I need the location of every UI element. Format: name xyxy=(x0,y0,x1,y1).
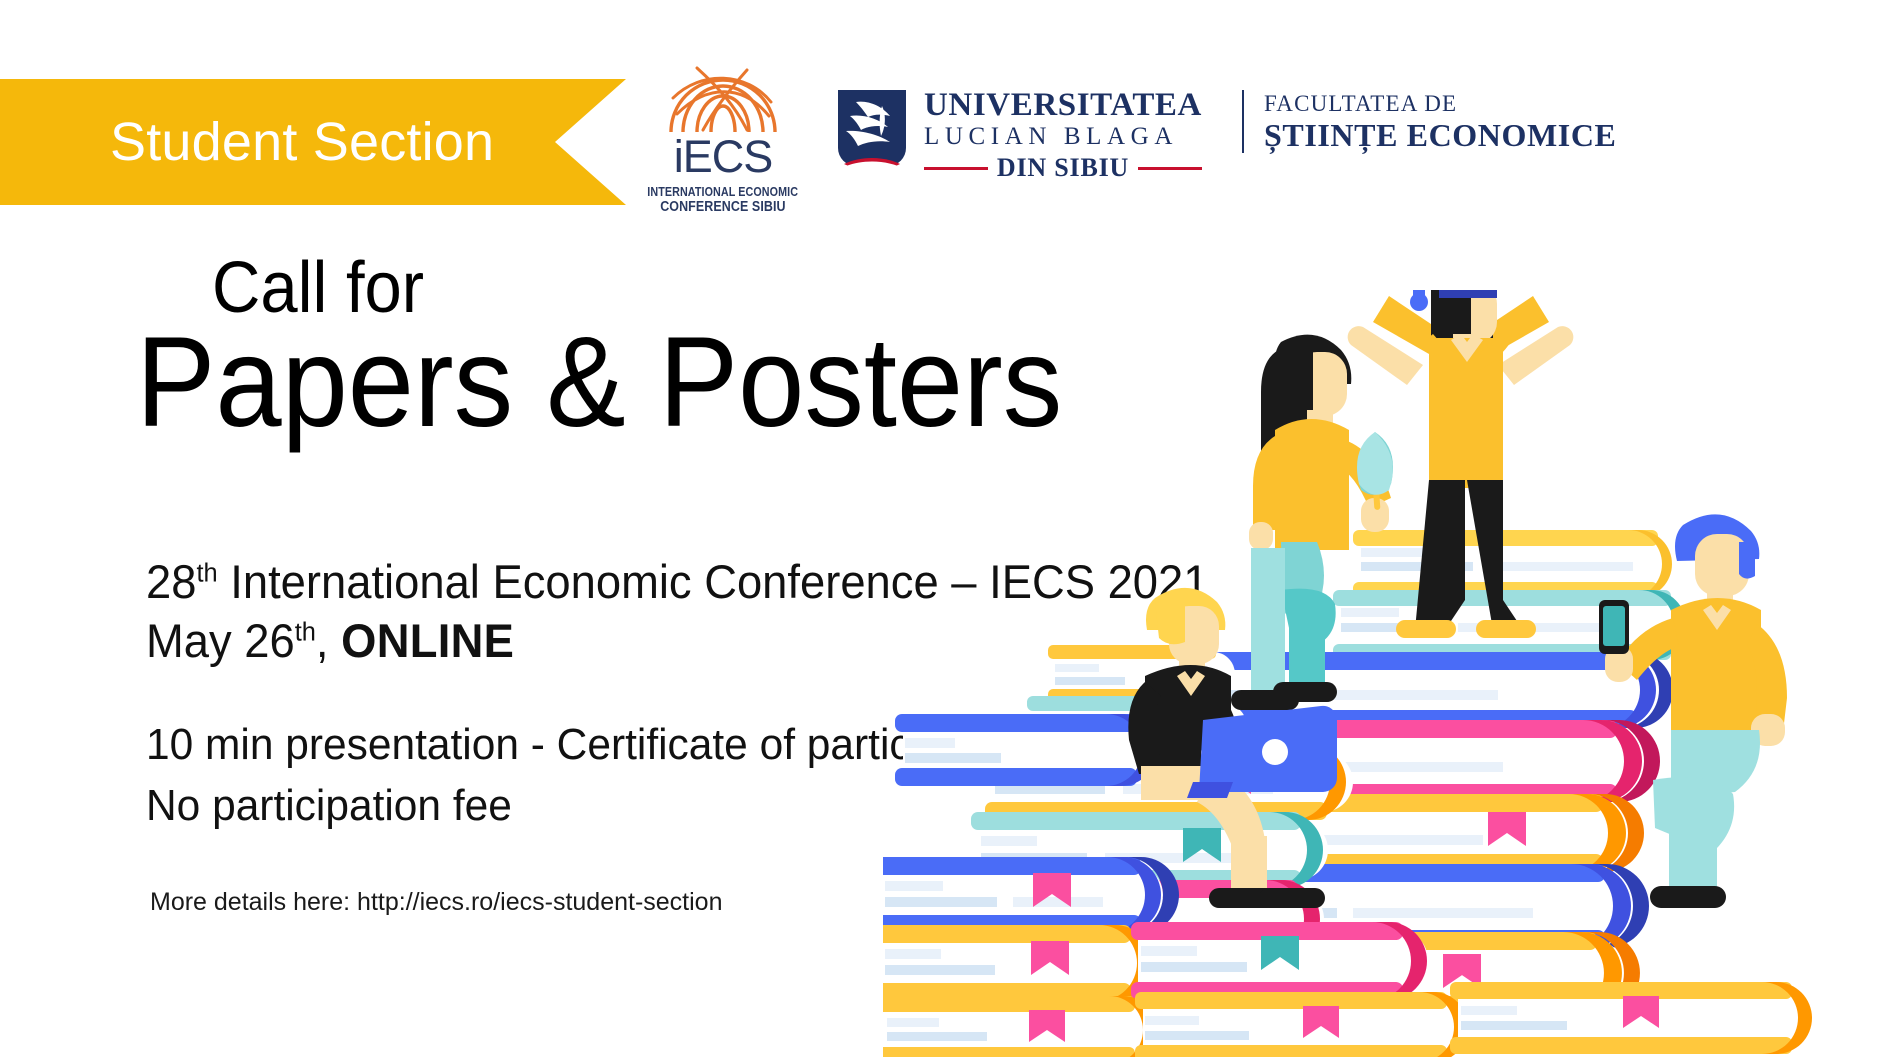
rule-left xyxy=(924,167,988,170)
university-logo: UNIVERSITATEA LUCIAN BLAGA DIN SIBIU xyxy=(834,56,1202,183)
iecs-logo: iECS INTERNATIONAL ECONOMIC CONFERENCE S… xyxy=(648,56,798,215)
smartphone-icon xyxy=(1599,600,1629,654)
book xyxy=(1353,530,1684,598)
date-separator: , xyxy=(316,614,341,667)
date-prefix: May 26 xyxy=(146,614,295,667)
book xyxy=(1450,982,1816,1054)
ulbs-eagle-shield-icon xyxy=(834,86,910,178)
faculty-line2: ȘTIINȚE ECONOMICE xyxy=(1264,118,1617,153)
university-wordmark: UNIVERSITATEA LUCIAN BLAGA DIN SIBIU xyxy=(924,86,1202,183)
book xyxy=(883,857,1179,933)
faculty-logo: FACULTATEA DE ȘTIINȚE ECONOMICE xyxy=(1242,56,1617,153)
faculty-line1: FACULTATEA DE xyxy=(1264,90,1617,118)
laptop-icon xyxy=(1187,706,1337,798)
conference-ordinal: th xyxy=(196,558,217,588)
book xyxy=(883,925,1153,1001)
iecs-wordmark: iECS xyxy=(674,134,773,179)
university-line1: UNIVERSITATEA xyxy=(924,88,1202,123)
ribbon-label: Student Section xyxy=(110,111,494,173)
university-line3: DIN SIBIU xyxy=(988,153,1138,183)
book xyxy=(1135,992,1470,1057)
rule-right xyxy=(1138,167,1202,170)
poster-canvas: Student Section iECS INTERNAT xyxy=(0,0,1893,1057)
students-on-books-illustration xyxy=(883,290,1893,1057)
date-mode-badge: ONLINE xyxy=(341,614,514,667)
student-section-ribbon: Student Section xyxy=(0,79,626,205)
faculty-divider xyxy=(1242,90,1244,153)
iecs-globe-icon xyxy=(663,58,783,132)
iecs-subtitle-line1: INTERNATIONAL ECONOMIC xyxy=(648,185,799,199)
university-line3-row: DIN SIBIU xyxy=(924,153,1202,183)
book xyxy=(1131,922,1428,1000)
date-ordinal: th xyxy=(295,617,316,647)
book xyxy=(883,996,1159,1057)
more-details-link[interactable]: More details here: http://iecs.ro/iecs-s… xyxy=(150,888,723,917)
university-line2: LUCIAN BLAGA xyxy=(924,123,1202,152)
book xyxy=(895,714,1161,786)
conference-number: 28 xyxy=(146,555,196,608)
iecs-subtitle-line2: CONFERENCE SIBIU xyxy=(660,199,785,215)
faculty-wordmark: FACULTATEA DE ȘTIINȚE ECONOMICE xyxy=(1264,90,1617,153)
logo-row: iECS INTERNATIONAL ECONOMIC CONFERENCE S… xyxy=(648,56,1616,214)
